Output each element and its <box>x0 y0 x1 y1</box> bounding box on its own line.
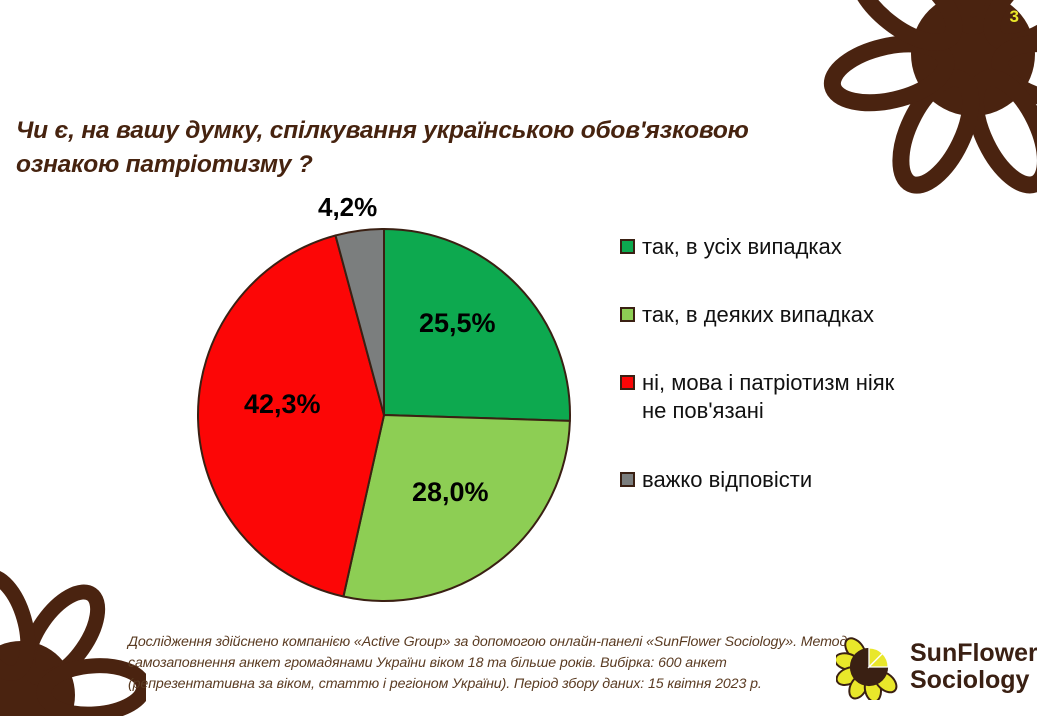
slice-value-label: 4,2% <box>318 192 377 223</box>
sunflower-decoration-top-right <box>823 0 1037 204</box>
pie-chart: 25,5% 28,0% 42,3% 4,2% <box>0 0 620 640</box>
pie-chart-svg <box>180 205 600 625</box>
slice-value-label: 28,0% <box>412 477 489 508</box>
slice-value-label: 25,5% <box>419 308 496 339</box>
footer-line-3: (репрезентативна за віком, статтю і регі… <box>128 674 828 695</box>
logo-wordmark: SunFlower Sociology <box>910 640 1037 694</box>
legend-item-no-unrelated[interactable]: ні, мова і патріотизм ніяк не пов'язані <box>620 369 1020 425</box>
footer-line-1: Дослідження здійснено компанією «Active … <box>128 632 828 653</box>
legend-item-yes-always[interactable]: так, в усіх випадках <box>620 233 1020 261</box>
sunflower-logo-icon <box>836 634 902 700</box>
legend-item-label: важко відповісти <box>642 466 812 494</box>
legend-item-label: так, в деяких випадках <box>642 301 874 329</box>
slice-value-label: 42,3% <box>244 389 321 420</box>
chart-legend: так, в усіх випадках так, в деяких випад… <box>620 233 1020 494</box>
legend-swatch-icon <box>620 307 635 322</box>
logo-line-1: SunFlower <box>910 640 1037 667</box>
logo-line-2: Sociology <box>910 667 1037 694</box>
slide: 3 Чи є, на вашу думку, спілкування украї… <box>0 0 1037 716</box>
legend-swatch-icon <box>620 239 635 254</box>
sunflower-sociology-logo: SunFlower Sociology <box>836 634 1037 700</box>
legend-swatch-icon <box>620 375 635 390</box>
legend-item-label: так, в усіх випадках <box>642 233 842 261</box>
legend-item-label: ні, мова і патріотизм ніяк не пов'язані <box>642 369 894 425</box>
page-number: 3 <box>1010 8 1019 25</box>
legend-item-hard-to-answer[interactable]: важко відповісти <box>620 466 1020 494</box>
legend-item-yes-sometimes[interactable]: так, в деяких випадках <box>620 301 1020 329</box>
methodology-footer: Дослідження здійснено компанією «Active … <box>128 632 828 695</box>
legend-swatch-icon <box>620 472 635 487</box>
footer-line-2: самозаповнення анкет громадянами України… <box>128 653 828 674</box>
